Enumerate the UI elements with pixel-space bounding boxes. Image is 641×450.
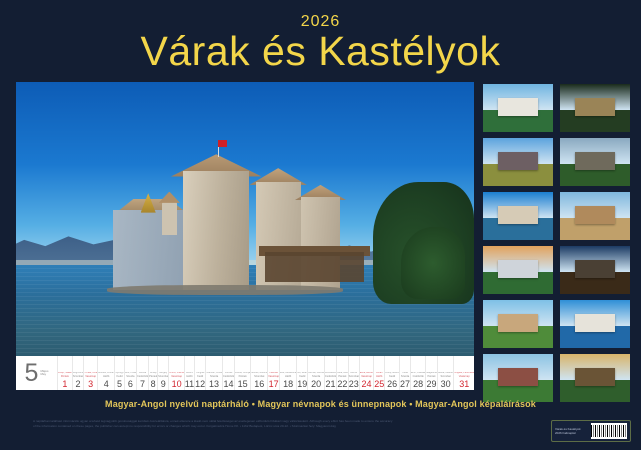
hero-photo xyxy=(16,82,474,360)
barcode-box: Várak és Kastélyok 2026 Falinaptár xyxy=(551,420,631,442)
tagline: Magyar-Angol nyelvű naptárháló • Magyar … xyxy=(0,399,641,409)
thumbnail-item xyxy=(483,192,553,240)
calendar-day-number: 15 xyxy=(238,379,248,389)
thumbnail-item xyxy=(483,300,553,348)
calendar-month-names: Május May xyxy=(40,370,48,376)
calendar-day-number: 11 xyxy=(185,379,194,389)
castle-wing xyxy=(113,210,189,291)
calendar-day-number: 16 xyxy=(254,379,264,389)
calendar-day-number: 20 xyxy=(311,379,321,389)
calendar-day-number: 2 xyxy=(75,379,80,389)
thumbnail-item xyxy=(560,354,630,402)
calendar-day-cell: Janka, ZsanettSzombat30 xyxy=(437,356,454,390)
calendar-day-number: 14 xyxy=(224,379,234,389)
thumbnail-item xyxy=(560,246,630,294)
calendar-day-weekday: Kedd xyxy=(117,375,123,378)
calendar-day-number: 29 xyxy=(427,379,437,389)
calendar-day-weekday: Péntek xyxy=(61,375,69,378)
calendar-day-cell: MihályPéntek8 xyxy=(148,356,157,390)
thumbnail-building xyxy=(575,152,614,169)
calendar-day-cell: MagdolnaPéntek29 xyxy=(425,356,437,390)
calendar-day-cell: GyörgyiKedd5 xyxy=(114,356,123,390)
calendar-day-cell: Ivó, MilánKedd19 xyxy=(296,356,307,390)
calendar-day-number: 19 xyxy=(297,379,307,389)
calendar-day-weekday: Vasárnap xyxy=(268,375,279,378)
castle-turret xyxy=(162,202,177,235)
calendar-day-cell: Zsófia, SzonjaPéntek15 xyxy=(234,356,250,390)
thumbnail-building xyxy=(498,206,537,223)
calendar-day-number: 13 xyxy=(209,379,219,389)
calendar-day-cell: Ármin, PálmaVasárnap10 xyxy=(168,356,183,390)
calendar-day-weekday: Szombat xyxy=(349,375,359,378)
calendar-day-weekday: Csütörtök xyxy=(325,375,336,378)
calendar-day-cell: Mónika, FlóriánHétfő4 xyxy=(97,356,114,390)
calendar-day-cell: Júlia, RitaPéntek22 xyxy=(336,356,348,390)
calendar-day-weekday: Vasárnap xyxy=(171,375,182,378)
calendar-day-cell: GizellaCsütörtök7 xyxy=(136,356,148,390)
calendar-day-weekday: Hétfő xyxy=(376,375,382,378)
thumbnail-item xyxy=(560,192,630,240)
thumbnail-building xyxy=(498,98,537,115)
calendar-day-number: 26 xyxy=(387,379,397,389)
calendar-product-page: 2026 Várak és Kastélyok xyxy=(0,0,641,450)
calendar-day-number: 9 xyxy=(161,379,166,389)
calendar-day-cell: Ivett, FridaSzerda6 xyxy=(124,356,136,390)
calendar-day-cell: Tímea, IrmaVasárnap3 xyxy=(83,356,97,390)
calendar-day-weekday: Péntek xyxy=(149,375,157,378)
calendar-day-weekday: Kedd xyxy=(299,375,305,378)
calendar-day-number: 24 xyxy=(362,379,372,389)
calendar-day-weekday: Csütörtök xyxy=(137,375,148,378)
calendar-day-number: 23 xyxy=(349,379,359,389)
calendar-day-weekday: Szombat xyxy=(73,375,83,378)
thumbnail-grid xyxy=(483,84,631,408)
thumbnail-item xyxy=(560,300,630,348)
calendar-days: Fülöp, JakabPéntek1ZsigmondSzombat2Tímea… xyxy=(57,356,474,390)
thumbnail-building xyxy=(575,206,614,223)
calendar-day-cell: Fülöp, JakabPéntek1 xyxy=(57,356,72,390)
barcode-symbol xyxy=(591,423,627,439)
calendar-day-weekday: Szombat xyxy=(158,375,168,378)
calendar-day-number: 10 xyxy=(172,379,182,389)
calendar-day-number: 27 xyxy=(400,379,410,389)
thumbnail-item xyxy=(560,138,630,186)
calendar-day-weekday: Vasárnap xyxy=(459,375,470,378)
calendar-month-block: 5 Május May xyxy=(16,356,57,390)
header: 2026 Várak és Kastélyok xyxy=(0,0,641,80)
page-title: Várak és Kastélyok xyxy=(0,27,641,75)
calendar-day-cell: GergelySzombat9 xyxy=(157,356,168,390)
calendar-day-weekday: Szombat xyxy=(440,375,450,378)
thumbnail-item xyxy=(483,138,553,186)
calendar-day-number: 4 xyxy=(104,379,109,389)
calendar-day-number: 18 xyxy=(283,379,293,389)
calendar-strip: 5 Május May Fülöp, JakabPéntek1ZsigmondS… xyxy=(16,356,474,390)
calendar-day-cell: DezsőSzombat23 xyxy=(348,356,359,390)
calendar-day-number: 31 xyxy=(459,379,469,389)
thumbnail-item xyxy=(483,354,553,402)
calendar-day-cell: Fülöp, EvelinKedd26 xyxy=(384,356,399,390)
hero-trees-secondary xyxy=(401,227,465,299)
calendar-day-cell: OrbánHétfő25 xyxy=(373,356,384,390)
calendar-day-weekday: Vasárnap xyxy=(85,375,96,378)
calendar-day-cell: PongrácKedd12 xyxy=(194,356,205,390)
thumbnail-building xyxy=(498,260,537,277)
calendar-day-cell: ZsigmondSzombat2 xyxy=(72,356,84,390)
calendar-day-number: 28 xyxy=(413,379,423,389)
calendar-day-weekday: Csütörtök xyxy=(413,375,424,378)
calendar-day-cell: HellaSzerda27 xyxy=(399,356,410,390)
calendar-day-number: 22 xyxy=(337,379,347,389)
calendar-day-cell: FerencHétfő11 xyxy=(184,356,194,390)
calendar-day-weekday: Hétfő xyxy=(285,375,291,378)
thumbnail-building xyxy=(498,314,537,331)
calendar-day-weekday: Szerda xyxy=(312,375,320,378)
calendar-day-weekday: Szerda xyxy=(126,375,134,378)
calendar-day-weekday: Szerda xyxy=(401,375,409,378)
calendar-day-cell: Bernát, FelíciaSzerda20 xyxy=(307,356,323,390)
calendar-day-cell: Szervác, ImolaSzerda13 xyxy=(205,356,222,390)
thumbnail-building xyxy=(575,314,614,331)
thumbnail-building xyxy=(498,368,537,385)
calendar-day-number: 21 xyxy=(325,379,335,389)
calendar-day-cell: PaszkálVasárnap17 xyxy=(267,356,279,390)
calendar-day-weekday: Hétfő xyxy=(103,375,109,378)
calendar-day-number: 30 xyxy=(441,379,451,389)
calendar-day-number: 6 xyxy=(128,379,133,389)
calendar-month-number: 5 xyxy=(25,361,39,386)
castle-rocks xyxy=(107,285,343,295)
calendar-day-weekday: Szerda xyxy=(210,375,218,378)
calendar-month-name-en: May xyxy=(40,373,48,376)
calendar-day-number: 5 xyxy=(117,379,122,389)
calendar-day-cell: Eliza, EszterVasárnap24 xyxy=(359,356,373,390)
calendar-day-cell: KonstantinCsütörtök21 xyxy=(324,356,336,390)
thumbnail-building xyxy=(575,368,614,385)
calendar-day-number: 7 xyxy=(140,379,145,389)
castle-keep xyxy=(183,171,249,291)
castle-flag xyxy=(218,140,227,147)
calendar-day-cell: Mózes, BotondSzombat16 xyxy=(250,356,267,390)
calendar-day-cell: BonifácCsütörtök14 xyxy=(222,356,234,390)
calendar-day-number: 8 xyxy=(151,379,156,389)
barcode-label: Várak és Kastélyok 2026 Falinaptár xyxy=(555,427,588,435)
thumbnail-item xyxy=(560,84,630,132)
calendar-day-weekday: Péntek xyxy=(338,375,346,378)
thumbnail-building xyxy=(498,152,537,169)
calendar-day-weekday: Csütörtök xyxy=(223,375,234,378)
calendar-day-number: 17 xyxy=(269,379,279,389)
calendar-day-cell: Angéla, PetronellaVasárnap31 xyxy=(453,356,474,390)
calendar-day-weekday: Vasárnap xyxy=(361,375,372,378)
fineprint: A naptárban található információk ugyan … xyxy=(33,419,393,428)
thumbnail-item xyxy=(483,84,553,132)
calendar-day-weekday: Kedd xyxy=(389,375,395,378)
calendar-day-weekday: Kedd xyxy=(197,375,203,378)
calendar-day-number: 12 xyxy=(195,379,205,389)
calendar-day-weekday: Péntek xyxy=(239,375,247,378)
calendar-day-weekday: Szombat xyxy=(254,375,264,378)
calendar-day-number: 1 xyxy=(62,379,67,389)
calendar-day-cell: Erik, AlexandraHétfő18 xyxy=(279,356,296,390)
calendar-day-number: 3 xyxy=(88,379,93,389)
castle-gallery xyxy=(265,252,365,283)
calendar-day-weekday: Hétfő xyxy=(186,375,192,378)
calendar-day-cell: Emil, CsanádCsütörtök28 xyxy=(410,356,425,390)
hero-castle xyxy=(89,152,391,291)
thumbnail-building xyxy=(575,260,614,277)
thumbnail-building xyxy=(575,98,614,115)
thumbnail-item xyxy=(483,246,553,294)
calendar-day-weekday: Péntek xyxy=(427,375,435,378)
calendar-day-number: 25 xyxy=(374,379,384,389)
